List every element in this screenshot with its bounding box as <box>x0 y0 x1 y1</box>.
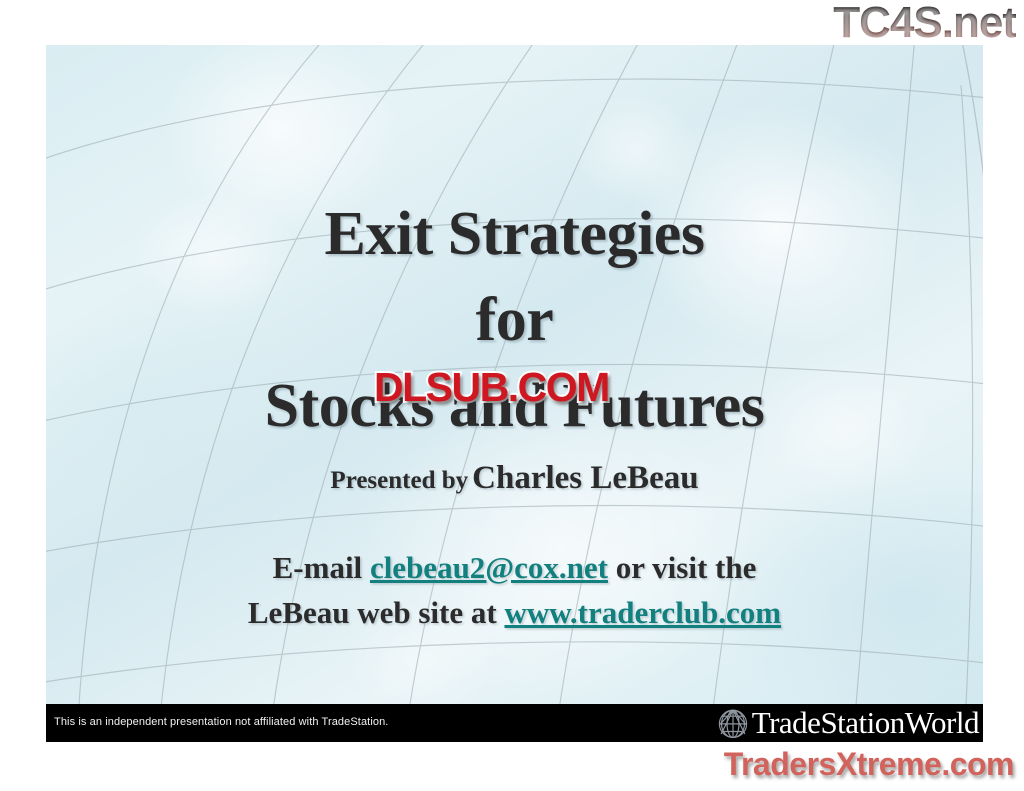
presentation-slide-page: Exit Strategies for Stocks and Futures P… <box>0 0 1024 791</box>
email-link[interactable]: clebeau2@cox.net <box>370 550 608 585</box>
contact-website-line: LeBeau web site at www.traderclub.com <box>46 595 983 631</box>
presenter-line: Presented by Charles LeBeau <box>46 460 983 497</box>
disclaimer-text: This is an independent presentation not … <box>54 716 388 728</box>
watermark-tc4s: TC4S.net <box>833 0 1016 48</box>
tradestationworld-logo: TradeStationWorld <box>716 705 979 741</box>
contact-email-line: E-mail clebeau2@cox.net or visit the <box>46 550 983 586</box>
email-label: E-mail <box>273 550 370 585</box>
title-line-2: for <box>46 281 983 359</box>
presenter-name: Charles LeBeau <box>472 460 698 496</box>
footer-bar: This is an independent presentation not … <box>46 704 983 742</box>
watermark-tradersxtreme: TradersXtreme.com <box>724 746 1014 783</box>
title-line-1: Exit Strategies <box>46 195 983 273</box>
website-link[interactable]: www.traderclub.com <box>504 595 781 630</box>
globe-icon <box>716 706 750 740</box>
email-suffix-label: or visit the <box>608 550 756 585</box>
tradestationworld-wordmark: TradeStationWorld <box>752 706 979 740</box>
presented-by-label: Presented by <box>330 467 468 494</box>
watermark-dlsub: DLSUB.COM <box>374 364 609 411</box>
website-label: LeBeau web site at <box>248 595 505 630</box>
logo-text: TradeStationWorld <box>752 705 979 740</box>
